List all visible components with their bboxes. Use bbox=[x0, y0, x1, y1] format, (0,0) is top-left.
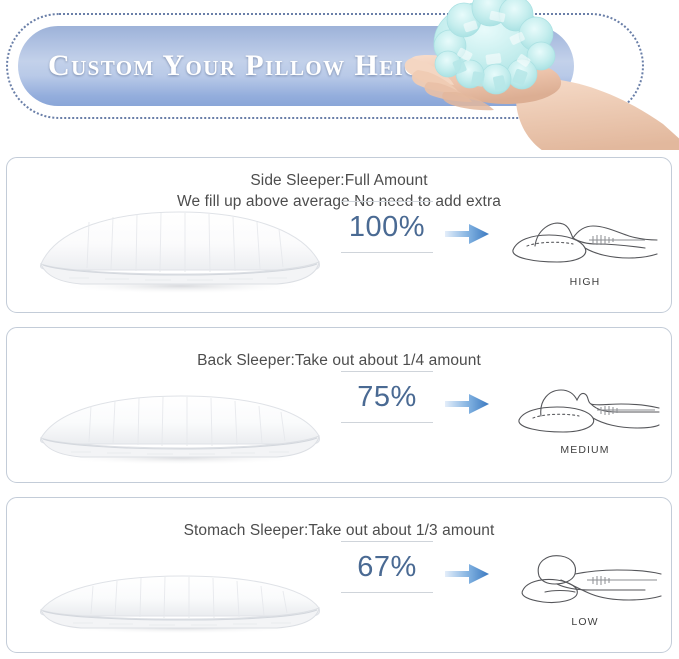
panel-heading-line1: Stomach Sleeper:Take out about 1/3 amoun… bbox=[184, 522, 495, 539]
header-banner: Custom Your Pillow Height bbox=[0, 0, 679, 150]
sleeper-diagram: LOW bbox=[505, 546, 665, 628]
percent-value: 100% bbox=[341, 202, 433, 252]
back-sleeper-medium-pillow-icon bbox=[505, 378, 665, 438]
percent-block: 67% bbox=[341, 541, 433, 593]
right-arrow-icon bbox=[443, 562, 491, 591]
sleeper-label: MEDIUM bbox=[505, 444, 665, 456]
pillow-option-panel: Stomach Sleeper:Take out about 1/3 amoun… bbox=[6, 497, 672, 653]
pillow-image bbox=[29, 560, 329, 641]
pillow-image bbox=[29, 386, 329, 471]
pillow-option-panel: Side Sleeper:Full Amount We fill up abov… bbox=[6, 157, 672, 313]
sleeper-diagram: HIGH bbox=[505, 202, 665, 288]
page-title: Custom Your Pillow Height bbox=[48, 46, 568, 86]
percent-rule-bottom bbox=[341, 252, 433, 253]
panel-heading: Stomach Sleeper:Take out about 1/3 amoun… bbox=[7, 520, 671, 541]
panel-heading: Back Sleeper:Take out about 1/4 amount bbox=[7, 350, 671, 371]
sleeper-label: LOW bbox=[505, 616, 665, 628]
sleeper-label: HIGH bbox=[505, 276, 665, 288]
panel-heading-line1: Side Sleeper:Full Amount bbox=[250, 172, 427, 189]
percent-rule-bottom bbox=[341, 422, 433, 423]
percent-rule-bottom bbox=[341, 592, 433, 593]
percent-block: 100% bbox=[341, 201, 433, 253]
percent-value: 75% bbox=[341, 372, 433, 422]
side-sleeper-high-pillow-icon bbox=[505, 202, 665, 270]
percent-block: 75% bbox=[341, 371, 433, 423]
panel-heading-line1: Back Sleeper:Take out about 1/4 amount bbox=[197, 352, 481, 369]
percent-value: 67% bbox=[341, 542, 433, 592]
pillow-image bbox=[29, 210, 329, 301]
right-arrow-icon bbox=[443, 222, 491, 251]
sleeper-diagram: MEDIUM bbox=[505, 378, 665, 456]
right-arrow-icon bbox=[443, 392, 491, 421]
pillow-option-panel: Back Sleeper:Take out about 1/4 amount bbox=[6, 327, 672, 483]
stomach-sleeper-low-pillow-icon bbox=[505, 546, 665, 610]
